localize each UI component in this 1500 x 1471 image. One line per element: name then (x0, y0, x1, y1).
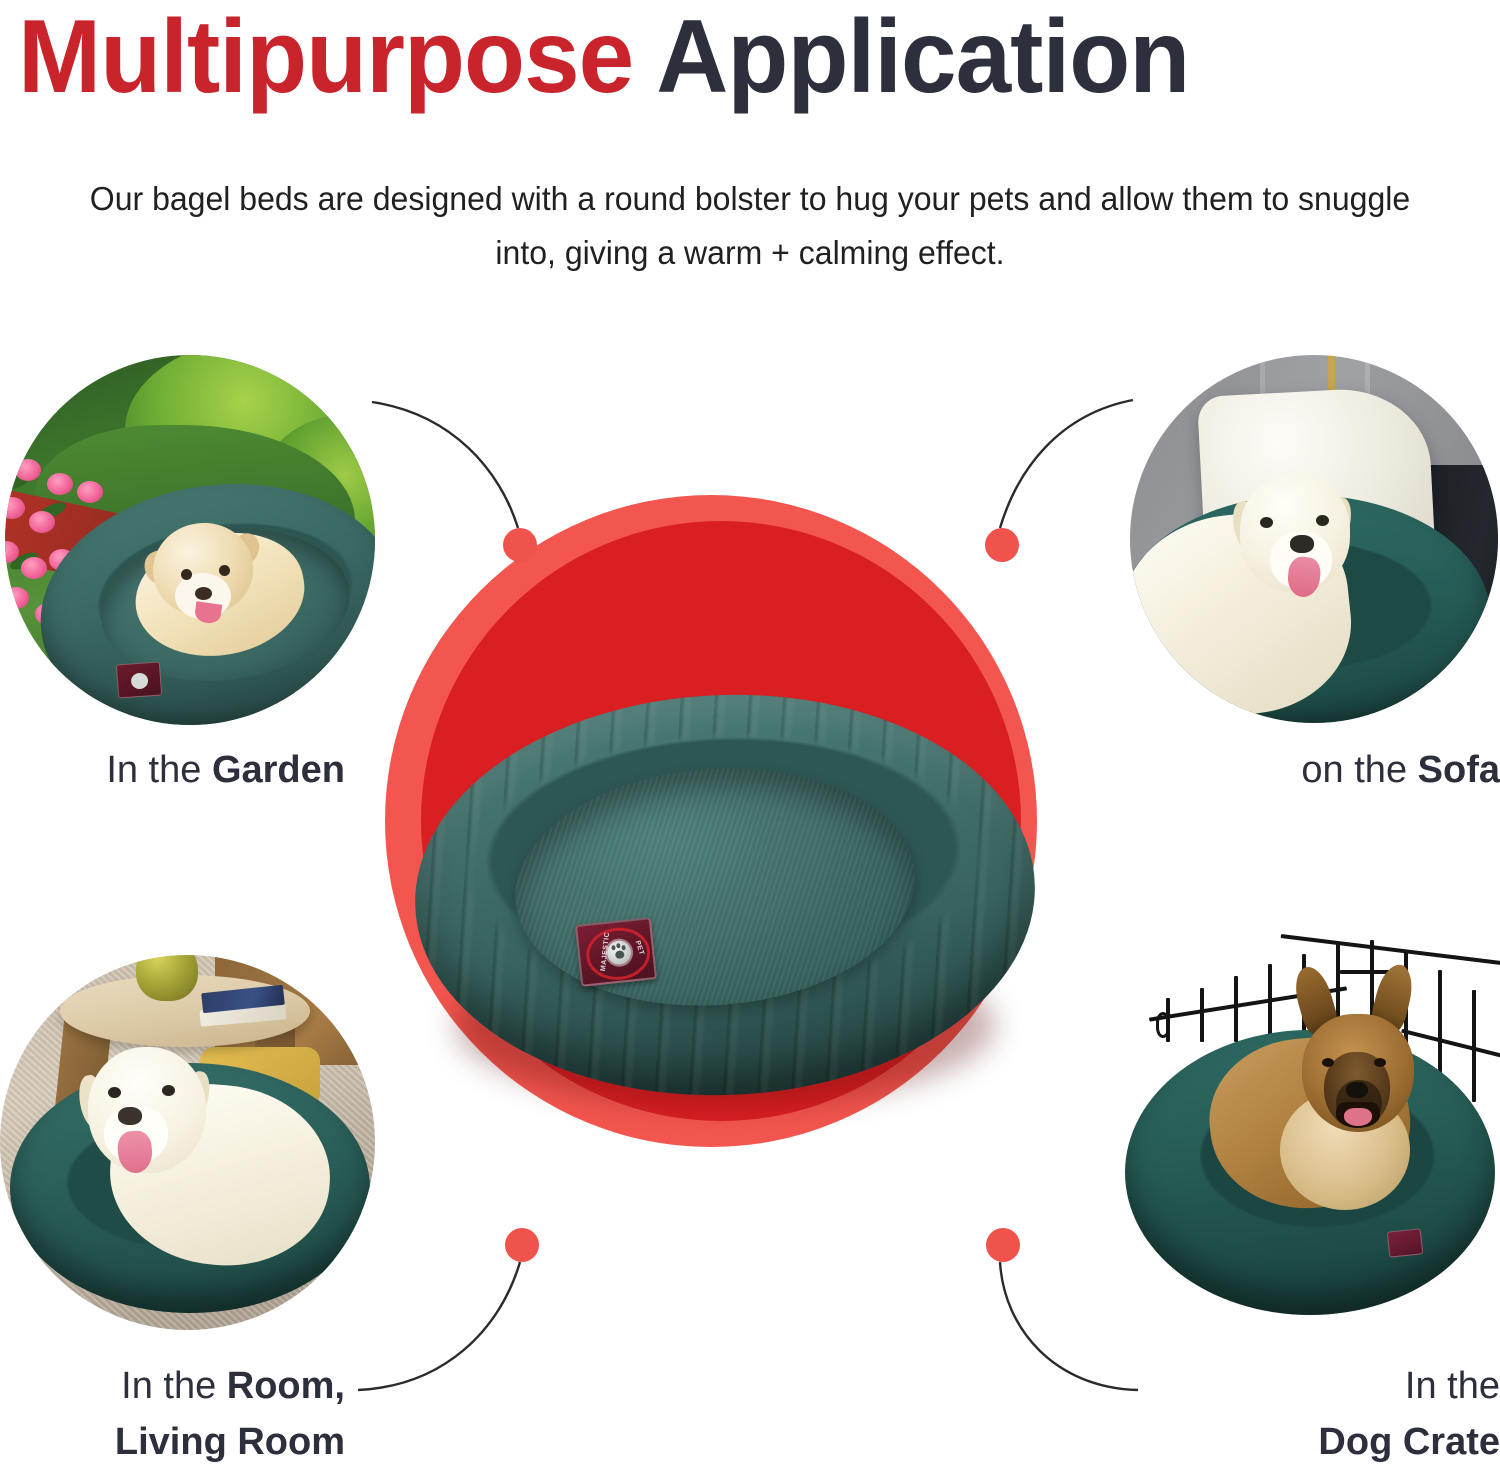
callout-label-dog-crate: In the Dog Crate (1155, 1358, 1500, 1470)
dog-nose (1346, 1082, 1368, 1098)
dog-tongue (1344, 1108, 1372, 1126)
page-title-primary: Multipurpose (18, 0, 633, 115)
dog-eye-right (162, 1085, 175, 1096)
callout-label-room-plain: In the (121, 1365, 227, 1407)
connector-dot-crate (986, 1228, 1020, 1262)
page-title-secondary: Application (656, 0, 1189, 115)
callout-photo-dog-crate (1130, 930, 1500, 1320)
callout-label-sofa-plain: on the (1301, 749, 1417, 791)
callout-photo-garden (5, 355, 375, 725)
dog-eye-right (219, 565, 230, 576)
connector-dot-garden (503, 528, 537, 562)
dog-nose (118, 1107, 142, 1125)
dog-nose (195, 587, 212, 600)
connector-line-crate (1000, 1262, 1138, 1390)
brand-tag-garden (116, 662, 162, 699)
dog-eye-right (1374, 1058, 1386, 1067)
hero-product-image: MAJESTIC PET (415, 695, 1035, 1115)
page-title: Multipurpose Application (18, 0, 1429, 116)
hero-product-group: MAJESTIC PET (385, 495, 1055, 1165)
brand-tag-crate (1387, 1228, 1424, 1257)
brand-tag: MAJESTIC PET (575, 917, 657, 987)
callout-label-room-bold: Room, (227, 1365, 345, 1407)
dog-nose (1290, 535, 1314, 553)
callout-label-sofa-bold: Sofa (1418, 749, 1500, 791)
connector-dot-sofa (985, 528, 1019, 562)
connector-line-room (358, 1262, 520, 1390)
callout-label-crate-line2-bold: Dog Crate (1318, 1421, 1500, 1463)
callout-label-garden: In the Garden (0, 742, 345, 798)
vase-icon (136, 955, 198, 1001)
dog-eye-left (108, 1087, 121, 1098)
dog-eye-right (1316, 515, 1329, 526)
callout-label-sofa: on the Sofa (1155, 742, 1500, 798)
callout-label-crate-plain: In the (1405, 1365, 1500, 1407)
callout-label-garden-bold: Garden (212, 749, 345, 791)
dog-eye-left (1260, 517, 1273, 528)
callout-photo-living-room (0, 955, 375, 1330)
connector-dot-room (505, 1228, 539, 1262)
brand-tag-text-right: PET (634, 940, 645, 957)
page-subtitle: Our bagel beds are designed with a round… (71, 172, 1429, 280)
header-block: Multipurpose Application Our bagel beds … (0, 0, 1500, 300)
callout-photo-sofa (1130, 355, 1498, 723)
dog-eye-left (1322, 1058, 1334, 1067)
callout-label-garden-plain: In the (106, 749, 212, 791)
crate-latch-icon (1156, 1012, 1170, 1038)
callout-label-living-room: In the Room, Living Room (0, 1358, 345, 1470)
dog-eye-left (181, 569, 192, 580)
callout-label-room-line2-bold: Living Room (115, 1421, 345, 1463)
